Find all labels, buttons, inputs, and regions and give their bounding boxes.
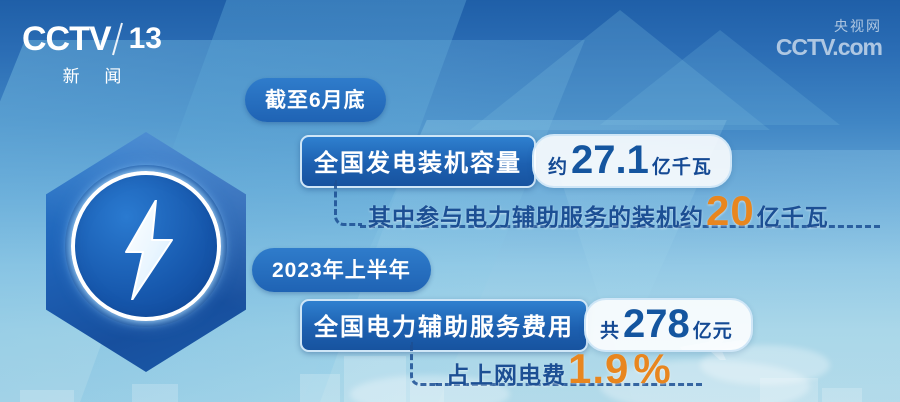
stat-prefix-1: 约 xyxy=(548,152,568,179)
stat-row-1: 全国发电装机容量 约 27.1 亿千瓦 xyxy=(300,134,732,188)
energy-emblem xyxy=(40,128,252,396)
channel-name: 新 闻 xyxy=(22,62,162,87)
watermark-en-text: CCTV.com xyxy=(776,36,882,59)
stat-unit-1: 亿千瓦 xyxy=(652,152,712,179)
connector-dash-2 xyxy=(410,342,438,386)
channel-number: 13 xyxy=(129,22,162,56)
sub-stat-number-2: 1.9 xyxy=(568,348,629,390)
stat-number-2: 278 xyxy=(623,304,690,344)
sub-stat-prefix-1: 其中参与电力辅助服务的装机约 xyxy=(368,198,704,232)
watermark: 央视网 CCTV.com xyxy=(776,16,882,59)
sub-stat-row-1: 其中参与电力辅助服务的装机约 20 亿千瓦 xyxy=(368,190,829,232)
sub-stat-row-2: 占上网电费 1.9 % xyxy=(446,348,674,390)
sub-stat-prefix-2: 占上网电费 xyxy=(446,356,566,390)
sub-stat-number-1: 20 xyxy=(706,190,755,232)
watermark-cn-text: 央视网 xyxy=(776,16,882,36)
connector-dash-1 xyxy=(334,180,362,226)
stat-label-2: 全国电力辅助服务费用 xyxy=(300,299,588,352)
stat-row-2: 全国电力辅助服务费用 共 278 亿元 xyxy=(300,298,753,352)
stat-value-pill-1: 约 27.1 亿千瓦 xyxy=(532,134,732,188)
broadcast-graphic: CCTV 13 新 闻 央视网 CCTV.com xyxy=(0,0,900,402)
block-1-tag-wrap: 截至6月底 xyxy=(245,78,386,122)
logo-divider-icon xyxy=(111,20,125,58)
stat-number-1: 27.1 xyxy=(571,140,649,180)
stat-value-pill-2: 共 278 亿元 xyxy=(584,298,753,352)
lightning-bolt-icon xyxy=(112,200,180,300)
stat-prefix-2: 共 xyxy=(600,316,620,343)
sub-stat-unit-2: % xyxy=(633,348,671,390)
block-2-tag-wrap: 2023年上半年 xyxy=(252,248,431,292)
sub-stat-unit-1: 亿千瓦 xyxy=(757,198,829,232)
stat-unit-2: 亿元 xyxy=(693,316,733,343)
channel-logo-text: CCTV xyxy=(22,22,111,56)
period-tag-1: 截至6月底 xyxy=(245,78,386,122)
period-tag-2: 2023年上半年 xyxy=(252,248,431,292)
channel-logo: CCTV 13 新 闻 xyxy=(22,20,162,87)
